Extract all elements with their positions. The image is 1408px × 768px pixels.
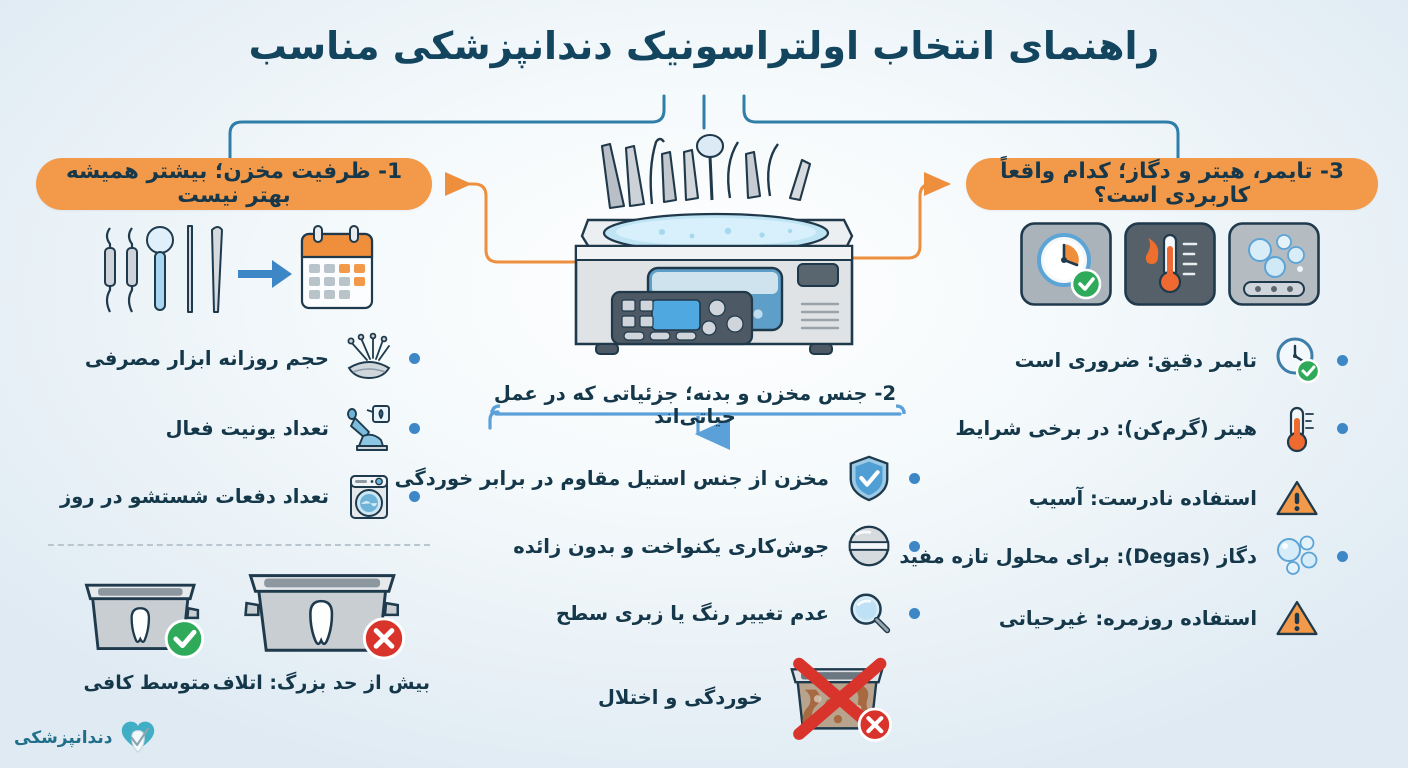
- ultrasonic-cleaner-illustration: [552, 128, 882, 378]
- site-logo[interactable]: دندانپزشکی: [14, 718, 158, 758]
- warning-triangle-icon: [1269, 470, 1325, 526]
- check-badge-icon: [1072, 270, 1100, 298]
- section-3-header-pill[interactable]: 3- تایمر، هیتر و دگاز؛ کدام واقعاً کاربر…: [966, 158, 1378, 210]
- section-2-heading: 2- جنس مخزن و بدنه؛ جزئیاتی که در عمل حی…: [470, 382, 920, 428]
- bullet-dot: [409, 353, 420, 364]
- compare-oversize-label: بیش از حد بزرگ: اتلاف: [230, 672, 430, 694]
- right-bullet-1-label: تایمر دقیق: ضروری است: [1015, 349, 1257, 372]
- right-bullet-2: هیتر (گرم‌کن): در برخی شرایط: [1018, 400, 1348, 456]
- warning-triangle-icon: [1269, 590, 1325, 646]
- left-bullet-1: حجم روزانه ابزار مصرفی: [110, 330, 420, 386]
- bullet-dot: [909, 473, 920, 484]
- scattered-instruments-icon: [341, 330, 397, 386]
- left-bullet-2: تعداد یونیت فعال: [170, 400, 420, 456]
- large-tank-icon: [235, 554, 425, 662]
- right-bullet-4-label: دگاز (Degas): برای محلول تازه مفید: [899, 545, 1257, 568]
- bullet-dot-placeholder: [1337, 613, 1348, 624]
- center-warning-row: خوردگی و اختلال: [598, 652, 918, 742]
- left-bullet-3: تعداد دفعات شستشو در روز: [96, 468, 420, 524]
- bullet-dot: [1337, 423, 1348, 434]
- timer-clock-tile: [1020, 222, 1112, 306]
- bubbles-icon: [1269, 528, 1325, 584]
- center-bullet-1-label: مخزن از جنس استیل مقاوم در برابر خوردگی: [395, 467, 829, 490]
- degas-bubbles-tile: [1228, 222, 1320, 306]
- right-bullet-4: دگاز (Degas): برای محلول تازه مفید: [1008, 528, 1348, 584]
- section-3-header-label: 3- تایمر، هیتر و دگاز؛ کدام واقعاً کاربر…: [984, 160, 1360, 207]
- bullet-dot: [1337, 355, 1348, 366]
- rusty-tank-crossed-icon: [777, 652, 897, 742]
- center-bullet-2: جوش‌کاری یکنواخت و بدون زائده: [552, 518, 920, 574]
- dental-chair-icon: [341, 400, 397, 456]
- compare-medium-label: متوسط کافی: [62, 672, 232, 694]
- weld-seam-icon: [841, 518, 897, 574]
- clock-check-icon: [1269, 332, 1325, 388]
- right-bullet-5-label: استفاده روزمره: غیرحیاتی: [999, 607, 1257, 630]
- section-1-header-pill[interactable]: 1- ظرفیت مخزن؛ بیشتر همیشه بهتر نیست: [36, 158, 432, 210]
- left-bullet-1-label: حجم روزانه ابزار مصرفی: [85, 347, 329, 370]
- right-bullet-3: استفاده نادرست: آسیب: [1018, 470, 1348, 526]
- left-bullet-3-label: تعداد دفعات شستشو در روز: [60, 485, 329, 508]
- center-bullet-2-label: جوش‌کاری یکنواخت و بدون زائده: [513, 535, 829, 558]
- page-title: راهنمای انتخاب اولتراسونیک دندانپزشکی من…: [0, 24, 1408, 68]
- washing-machine-icon: [341, 468, 397, 524]
- bullet-dot: [409, 491, 420, 502]
- heater-thermometer-tile: [1124, 222, 1216, 306]
- right-bullet-2-label: هیتر (گرم‌کن): در برخی شرایط: [955, 417, 1257, 440]
- compare-medium-tank: متوسط کافی: [62, 566, 232, 694]
- center-bullet-3: عدم تغییر رنگ یا زبری سطح: [590, 585, 920, 641]
- feature-tiles: [1020, 222, 1320, 306]
- right-bullet-3-label: استفاده نادرست: آسیب: [1029, 487, 1257, 510]
- section-1-header-label: 1- ظرفیت مخزن؛ بیشتر همیشه بهتر نیست: [54, 160, 414, 207]
- shield-check-icon: [841, 450, 897, 506]
- instruments-to-calendar-group: [96, 220, 376, 320]
- section-divider: [48, 544, 430, 546]
- bullet-dot: [1337, 551, 1348, 562]
- right-bullet-1: تایمر دقیق: ضروری است: [1018, 332, 1348, 388]
- check-badge-icon: [166, 621, 202, 657]
- compare-oversize-tank: بیش از حد بزرگ: اتلاف: [230, 554, 430, 694]
- small-tank-icon: [72, 566, 222, 662]
- right-bullet-5: استفاده روزمره: غیرحیاتی: [1018, 590, 1348, 646]
- center-bullet-1: مخزن از جنس استیل مقاوم در برابر خوردگی: [488, 450, 920, 506]
- site-logo-label: دندانپزشکی: [14, 728, 112, 748]
- infographic-canvas: راهنمای انتخاب اولتراسونیک دندانپزشکی من…: [0, 0, 1408, 768]
- center-warning-label: خوردگی و اختلال: [598, 686, 763, 709]
- tooth-heart-icon: [118, 718, 158, 758]
- thermometer-icon: [1269, 400, 1325, 456]
- bullet-dot: [909, 608, 920, 619]
- center-bullet-3-label: عدم تغییر رنگ یا زبری سطح: [556, 602, 829, 625]
- magnifier-icon: [841, 585, 897, 641]
- bullet-dot: [409, 423, 420, 434]
- left-bullet-2-label: تعداد یونیت فعال: [166, 417, 329, 440]
- bullet-dot-placeholder: [1337, 493, 1348, 504]
